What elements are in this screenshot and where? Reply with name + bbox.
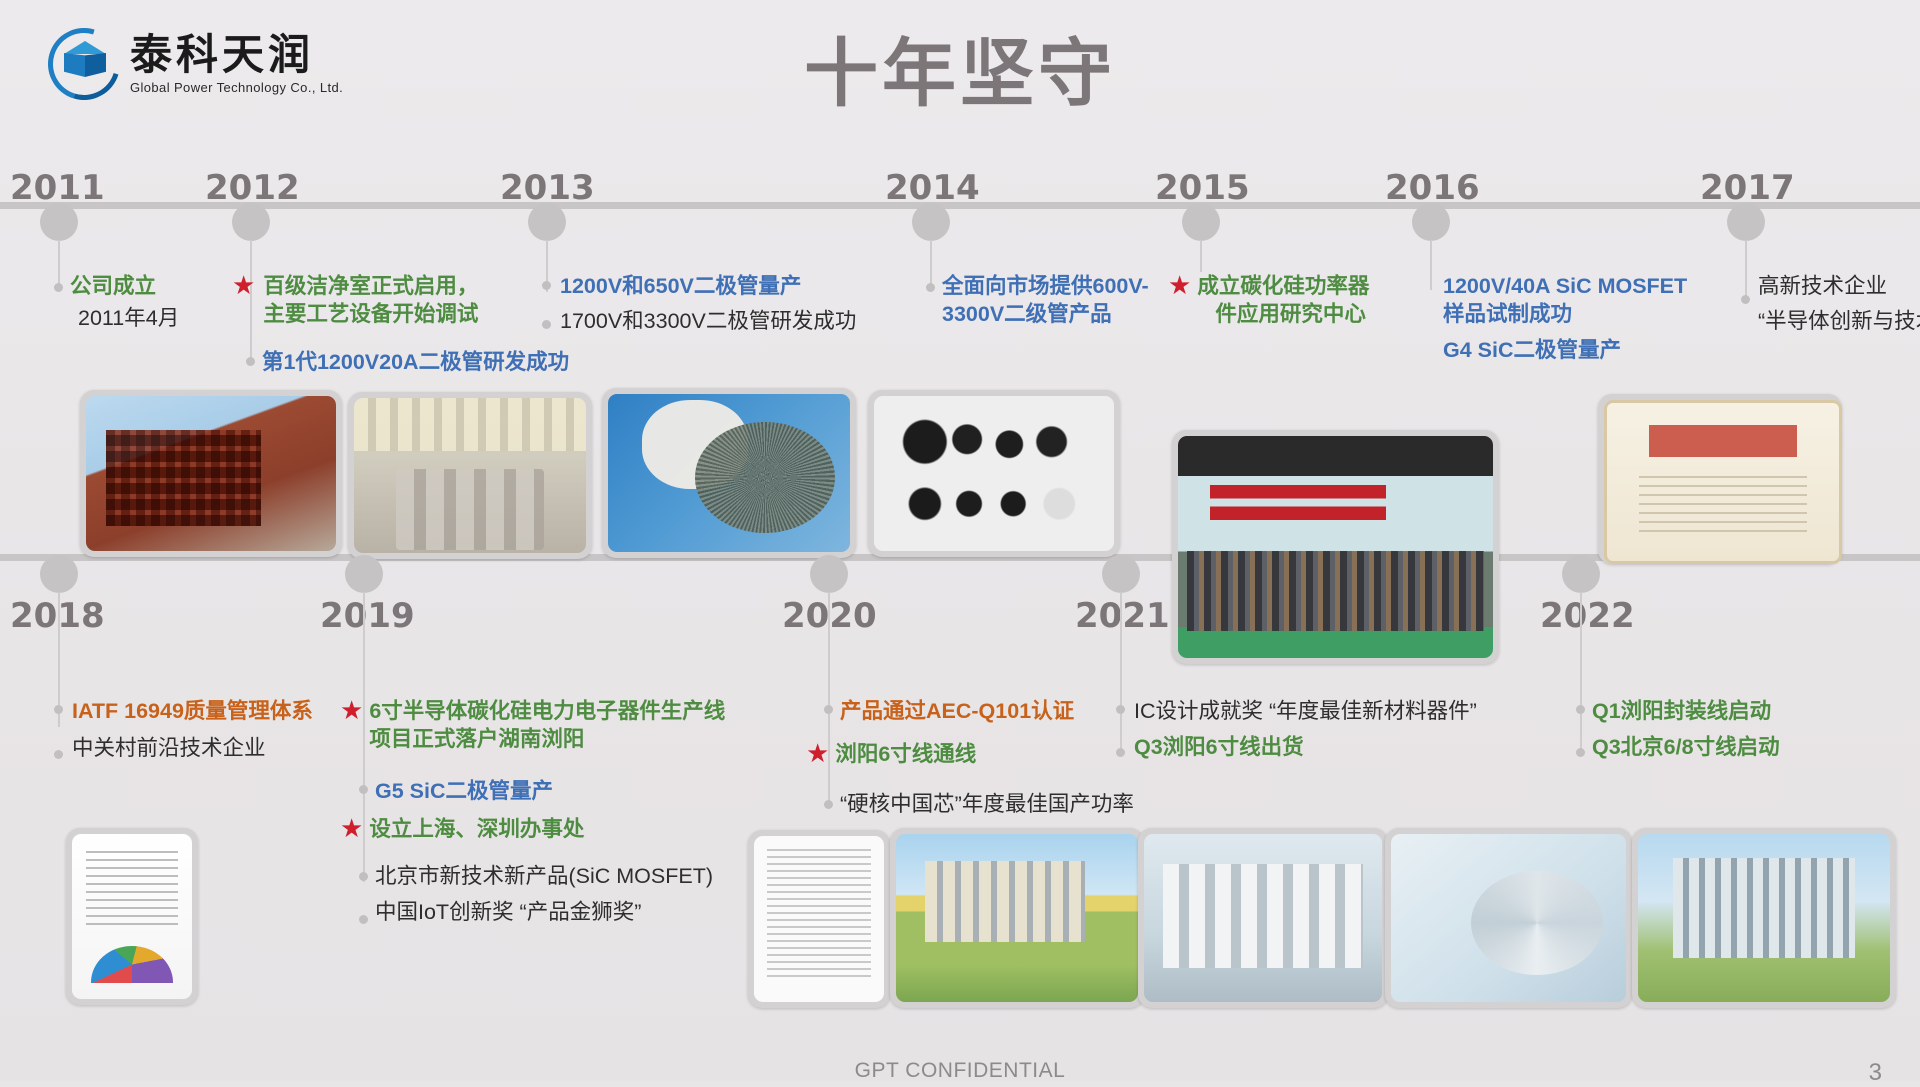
photo-beijing-fab (1632, 828, 1896, 1008)
entry-2011-1: 公司成立 (70, 272, 156, 300)
timeline-node-2019 (345, 555, 383, 593)
dot-2017-1 (1741, 295, 1750, 304)
dot-2022-2 (1576, 748, 1585, 757)
timeline-node-2015 (1182, 203, 1220, 241)
dot-2021-2 (1116, 748, 1125, 757)
entry-2022-1: Q1浏阳封装线启动 Q3北京6/8寸线启动 (1592, 697, 1780, 762)
dot-2020-1 (824, 705, 833, 714)
entry-2020-2: ★ 浏阳6寸线通线 (806, 740, 976, 768)
year-label-2015: 2015 (1155, 168, 1250, 208)
star-icon: ★ (340, 697, 363, 754)
photo-discrete-devices (868, 390, 1120, 557)
stem-2021 (1120, 592, 1122, 752)
dot-2013-1 (542, 281, 551, 290)
stem-2011 (58, 240, 60, 285)
dot-2011-1 (54, 283, 63, 292)
year-label-2011: 2011 (10, 168, 105, 208)
dot-2018-2 (54, 750, 63, 759)
dot-2018-1 (54, 705, 63, 714)
photo-iso-certificate (66, 828, 198, 1005)
entry-2018-1: IATF 16949质量管理体系 中关村前沿技术企业 (72, 697, 313, 763)
entry-2012-1: ★ 百级洁净室正式启用， 主要工艺设备开始调试 (232, 272, 478, 329)
confidential-label: GPT CONFIDENTIAL (855, 1059, 1066, 1083)
dot-2012-2 (246, 357, 255, 366)
timeline-node-2012 (232, 203, 270, 241)
year-label-2022: 2022 (1540, 596, 1635, 636)
star-icon: ★ (806, 740, 829, 768)
star-icon: ★ (340, 815, 363, 843)
entry-2020-1: 产品通过AEC-Q101认证 (840, 697, 1074, 725)
photo-liuyang-office (890, 828, 1144, 1008)
entry-2012-2: 第1代1200V20A二极管研发成功 (262, 348, 569, 376)
year-label-2012: 2012 (205, 168, 300, 208)
year-label-2019: 2019 (320, 596, 415, 636)
star-icon: ★ (232, 272, 255, 329)
dot-2022-1 (1576, 705, 1585, 714)
photo-cleanroom (348, 392, 592, 559)
dot-2019-4 (359, 872, 368, 881)
page-number: 3 (1869, 1059, 1882, 1087)
star-icon: ★ (1168, 272, 1191, 329)
entry-2019-3: ★ 设立上海、深圳办事处 (340, 815, 584, 843)
entry-2017-1: 高新技术企业 “半导体创新与技术 (1758, 272, 1920, 336)
slide-canvas: 泰科天润 Global Power Technology Co., Ltd. 十… (0, 0, 1920, 1081)
timeline-node-2017 (1727, 203, 1765, 241)
year-label-2016: 2016 (1385, 168, 1480, 208)
timeline-node-2011 (40, 203, 78, 241)
entry-2021-1: IC设计成就奖 “年度最佳新材料器件” Q3浏阳6寸线出货 (1134, 697, 1477, 762)
dot-2014-1 (926, 283, 935, 292)
year-label-2014: 2014 (885, 168, 980, 208)
entry-2011-2: 2011年4月 (78, 304, 179, 332)
timeline-node-2013 (528, 203, 566, 241)
photo-high-tech-certificate (1598, 394, 1842, 564)
photo-team-group (1172, 430, 1499, 664)
stem-2022 (1580, 592, 1582, 752)
stem-2020 (828, 592, 830, 802)
timeline-node-2022 (1562, 555, 1600, 593)
entry-2016-1: 1200V/40A SiC MOSFET 样品试制成功 G4 SiC二极管量产 (1443, 272, 1687, 364)
entry-2015-1: ★ 成立碳化硅功率器 件应用研究中心 (1168, 272, 1369, 329)
photo-wafer-inspection (1385, 828, 1632, 1008)
entry-2020-3: “硬核中国芯”年度最佳国产功率 (840, 790, 1134, 818)
photo-cleanroom-staff (1138, 828, 1388, 1008)
timeline-node-2020 (810, 555, 848, 593)
year-label-2013: 2013 (500, 168, 595, 208)
year-label-2017: 2017 (1700, 168, 1795, 208)
entry-2014-1: 全面向市场提供600V- 3300V二级管产品 (942, 272, 1149, 329)
stem-2016 (1430, 240, 1432, 290)
dot-2021-1 (1116, 705, 1125, 714)
entry-2019-1: ★ 6寸半导体碳化硅电力电子器件生产线 项目正式落户湖南浏阳 (340, 697, 725, 754)
timeline-node-2014 (912, 203, 950, 241)
timeline-node-2018 (40, 555, 78, 593)
stem-2015 (1200, 240, 1202, 272)
timeline-node-2021 (1102, 555, 1140, 593)
page-title: 十年坚守 (0, 14, 1920, 121)
dot-2019-2 (359, 785, 368, 794)
year-label-2021: 2021 (1075, 596, 1170, 636)
photo-engineer-wafer (602, 388, 856, 558)
entry-2013-1: 1200V和650V二极管量产 1700V和3300V二极管研发成功 (560, 272, 856, 336)
stem-2014 (930, 240, 932, 286)
dot-2019-5 (359, 915, 368, 924)
photo-aec-report (748, 830, 890, 1008)
dot-2020-3 (824, 800, 833, 809)
timeline-node-2016 (1412, 203, 1450, 241)
photo-headquarters-building (80, 390, 342, 557)
entry-2019-4: 北京市新技术新产品(SiC MOSFET) 中国IoT创新奖 “产品金狮奖” (375, 862, 713, 927)
entry-2019-2: G5 SiC二极管量产 (375, 777, 553, 805)
stem-2017 (1745, 240, 1747, 298)
dot-2013-2 (542, 320, 551, 329)
